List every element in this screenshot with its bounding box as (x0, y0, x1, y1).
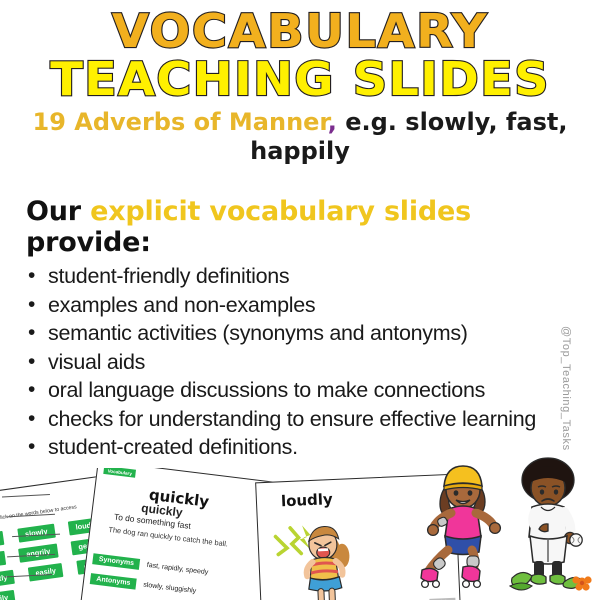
title-block: VOCABULARY TEACHING SLIDES 19 Adverbs of… (0, 6, 600, 166)
list-item: •examples and non-examples (26, 291, 574, 320)
subtitle: 19 Adverbs of Manner, e.g. slowly, fast,… (0, 108, 600, 166)
lead-heading: Our explicit vocabulary slides provide: (26, 196, 574, 258)
answer-line (7, 514, 55, 518)
watermark-handle: @Top_Teaching_Tasks (560, 326, 572, 486)
poster-canvas: VOCABULARY TEACHING SLIDES 19 Adverbs of… (0, 0, 600, 600)
feature-bullet-list: •student-friendly definitions •examples … (26, 262, 574, 462)
bullet-text: student-friendly definitions (48, 264, 289, 288)
list-item: •semantic activities (synonyms and anton… (26, 319, 574, 348)
roller-skating-girl-illustration (421, 466, 500, 587)
lead-prefix: Our (26, 196, 90, 227)
lead-suffix: provide: (26, 227, 151, 258)
subtitle-gold-part: 19 Adverbs of Manner (33, 108, 328, 136)
bullet-dot-icon: • (28, 348, 35, 377)
bullet-text: semantic activities (synonyms and antony… (48, 321, 468, 345)
bullet-text: examples and non-examples (48, 293, 315, 317)
page-title-line1: VOCABULARY (0, 6, 600, 56)
bullet-text: oral language discussions to make connec… (48, 378, 485, 402)
subtitle-comma: , (328, 108, 337, 136)
body-block: Our explicit vocabulary slides provide: … (26, 196, 574, 462)
bullet-dot-icon: • (28, 291, 35, 320)
lead-highlight: explicit vocabulary slides (90, 196, 471, 227)
bullet-dot-icon: • (28, 376, 35, 405)
answer-line (2, 494, 50, 498)
list-item: •oral language discussions to make conne… (26, 376, 574, 405)
bullet-dot-icon: • (28, 405, 35, 434)
list-item: •visual aids (26, 348, 574, 377)
cricket-boy-illustration (510, 458, 592, 591)
bullet-dot-icon: • (28, 433, 35, 462)
kids-illustration-group (418, 456, 600, 600)
bullet-text: visual aids (48, 350, 145, 374)
shouting-girl-illustration (272, 511, 366, 600)
bullet-text: checks for understanding to ensure effec… (48, 407, 536, 431)
slide-preview-answer-lines[interactable] (0, 468, 183, 600)
bullet-dot-icon: • (28, 262, 35, 291)
loudly-word: loudly (281, 490, 334, 510)
list-item: •student-created definitions. (26, 433, 574, 462)
page-title-line2: TEACHING SLIDES (0, 54, 600, 104)
bullet-text: student-created definitions. (48, 435, 298, 459)
list-item: •checks for understanding to ensure effe… (26, 405, 574, 434)
answer-line (4, 574, 52, 578)
list-item: •student-friendly definitions (26, 262, 574, 291)
answer-line (7, 554, 55, 558)
bullet-dot-icon: • (28, 319, 35, 348)
answer-line (12, 534, 60, 538)
